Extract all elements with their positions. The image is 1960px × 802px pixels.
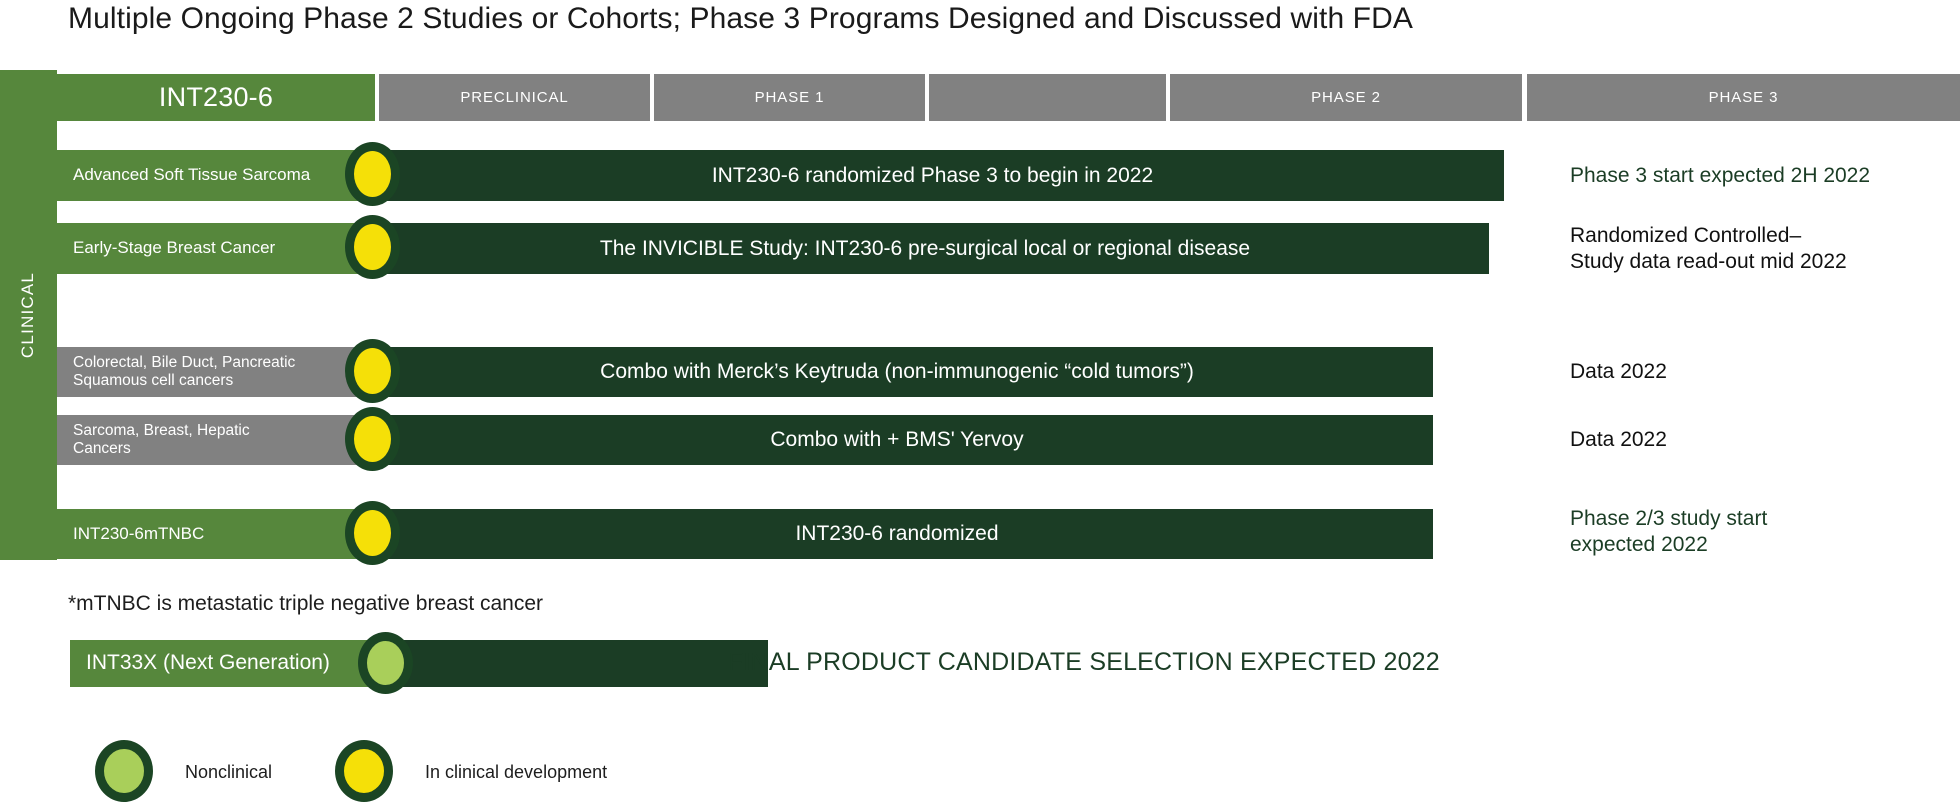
header-phase-3: PHASE 3 (1527, 74, 1960, 121)
clinical-band-label: CLINICAL (0, 70, 57, 560)
row-5-bar-text: INT230-6 randomized (795, 522, 998, 546)
nextgen-note: FINAL PRODUCT CANDIDATE SELECTION EXPECT… (728, 648, 1440, 677)
header-phase-1b (929, 74, 1166, 121)
header-phase-2: PHASE 2 (1170, 74, 1522, 121)
nextgen-label-text: INT33X (Next Generation) (86, 651, 330, 676)
row-1-label: Advanced Soft Tissue Sarcoma (57, 150, 373, 201)
row-5-label-text: INT230-6mTNBC (73, 524, 204, 544)
nextgen-label: INT33X (Next Generation) (70, 640, 386, 687)
pipeline-row-4[interactable]: Combo with + BMS' Yervoy Sarcoma, Breast… (57, 415, 1433, 465)
pipeline-row-1[interactable]: INT230-6 randomized Phase 3 to begin in … (57, 150, 1504, 201)
header-brand: INT230-6 (57, 74, 375, 121)
nextgen-status-dot (358, 632, 413, 694)
row-3-label-text: Colorectal, Bile Duct, Pancreatic Squamo… (73, 354, 295, 391)
pipeline-row-2[interactable]: The INVICIBLE Study: INT230-6 pre-surgic… (57, 223, 1489, 274)
header-phase-1: PHASE 1 (654, 74, 925, 121)
row-4-bar-text: Combo with + BMS' Yervoy (770, 428, 1023, 452)
legend-clinical-dot (335, 740, 393, 802)
row-4-label-text: Sarcoma, Breast, Hepatic Cancers (73, 422, 250, 459)
page-title: Multiple Ongoing Phase 2 Studies or Coho… (68, 2, 1413, 36)
footnote: *mTNBC is metastatic triple negative bre… (68, 592, 543, 616)
row-3-bar: Combo with Merck’s Keytruda (non-immunog… (373, 347, 1433, 397)
row-4-note: Data 2022 (1570, 415, 1667, 465)
header-phase-preclinical: PRECLINICAL (379, 74, 650, 121)
pipeline-diagram: Multiple Ongoing Phase 2 Studies or Coho… (0, 0, 1960, 799)
row-2-bar-text: The INVICIBLE Study: INT230-6 pre-surgic… (600, 237, 1250, 261)
row-4-status-dot (345, 407, 400, 471)
pipeline-row-5[interactable]: INT230-6 randomized INT230-6mTNBC (57, 509, 1433, 559)
row-1-bar-text: INT230-6 randomized Phase 3 to begin in … (712, 164, 1153, 188)
row-1-label-text: Advanced Soft Tissue Sarcoma (73, 165, 310, 185)
row-2-label-text: Early-Stage Breast Cancer (73, 238, 275, 258)
row-1-note: Phase 3 start expected 2H 2022 (1570, 150, 1870, 201)
clinical-band-text: CLINICAL (19, 272, 39, 358)
row-5-bar: INT230-6 randomized (373, 509, 1433, 559)
row-3-status-dot (345, 339, 400, 403)
row-3-note: Data 2022 (1570, 347, 1667, 397)
nextgen-bar (386, 640, 768, 687)
clinical-band: CLINICAL (0, 70, 57, 560)
row-3-bar-text: Combo with Merck’s Keytruda (non-immunog… (600, 360, 1194, 384)
legend-clinical-label: In clinical development (425, 762, 607, 783)
row-5-label: INT230-6mTNBC (57, 509, 373, 559)
row-1-status-dot (345, 142, 400, 206)
row-4-label: Sarcoma, Breast, Hepatic Cancers (57, 415, 373, 465)
row-3-label: Colorectal, Bile Duct, Pancreatic Squamo… (57, 347, 373, 397)
row-1-bar: INT230-6 randomized Phase 3 to begin in … (373, 150, 1504, 201)
row-4-bar: Combo with + BMS' Yervoy (373, 415, 1433, 465)
row-2-note: Randomized Controlled– Study data read-o… (1570, 222, 1847, 276)
row-5-status-dot (345, 501, 400, 565)
row-2-status-dot (345, 215, 400, 279)
nextgen-row[interactable]: INT33X (Next Generation) (70, 640, 698, 687)
legend-nonclinical-dot (95, 740, 153, 802)
legend-nonclinical-label: Nonclinical (185, 762, 272, 783)
row-2-label: Early-Stage Breast Cancer (57, 223, 373, 274)
row-2-bar: The INVICIBLE Study: INT230-6 pre-surgic… (373, 223, 1489, 274)
row-5-note: Phase 2/3 study start expected 2022 (1570, 500, 1767, 564)
pipeline-row-3[interactable]: Combo with Merck’s Keytruda (non-immunog… (57, 347, 1433, 397)
